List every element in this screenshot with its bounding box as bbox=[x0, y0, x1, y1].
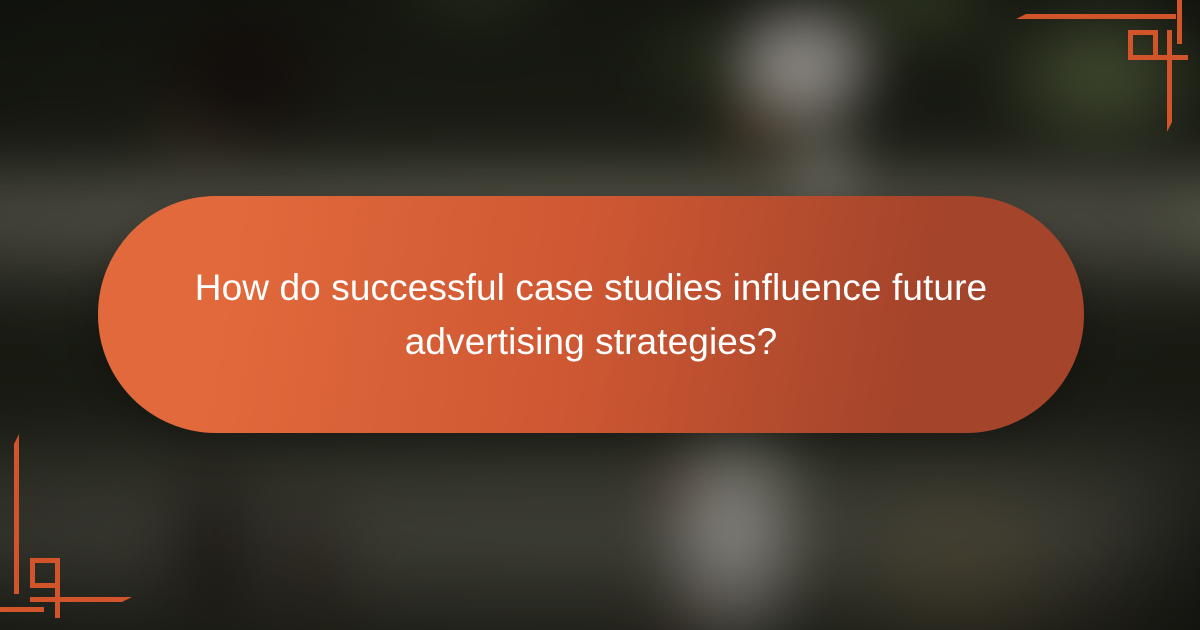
ornament-horizontal-bar bbox=[30, 597, 132, 602]
ornament-vertical-bar-short bbox=[1177, 0, 1182, 44]
corner-ornament-top-right bbox=[980, 0, 1200, 160]
ornament-vertical-bar-long bbox=[14, 434, 19, 594]
poster-canvas: How do successful case studies influence… bbox=[0, 0, 1200, 630]
question-card: How do successful case studies influence… bbox=[98, 196, 1084, 433]
corner-ornament-bottom-left bbox=[0, 470, 220, 630]
question-text: How do successful case studies influence… bbox=[98, 261, 1084, 369]
ornament-horizontal-bar-short bbox=[0, 607, 44, 612]
ornament-horizontal-bar bbox=[1016, 14, 1176, 19]
ornament-vertical-bar-long bbox=[1167, 30, 1172, 132]
